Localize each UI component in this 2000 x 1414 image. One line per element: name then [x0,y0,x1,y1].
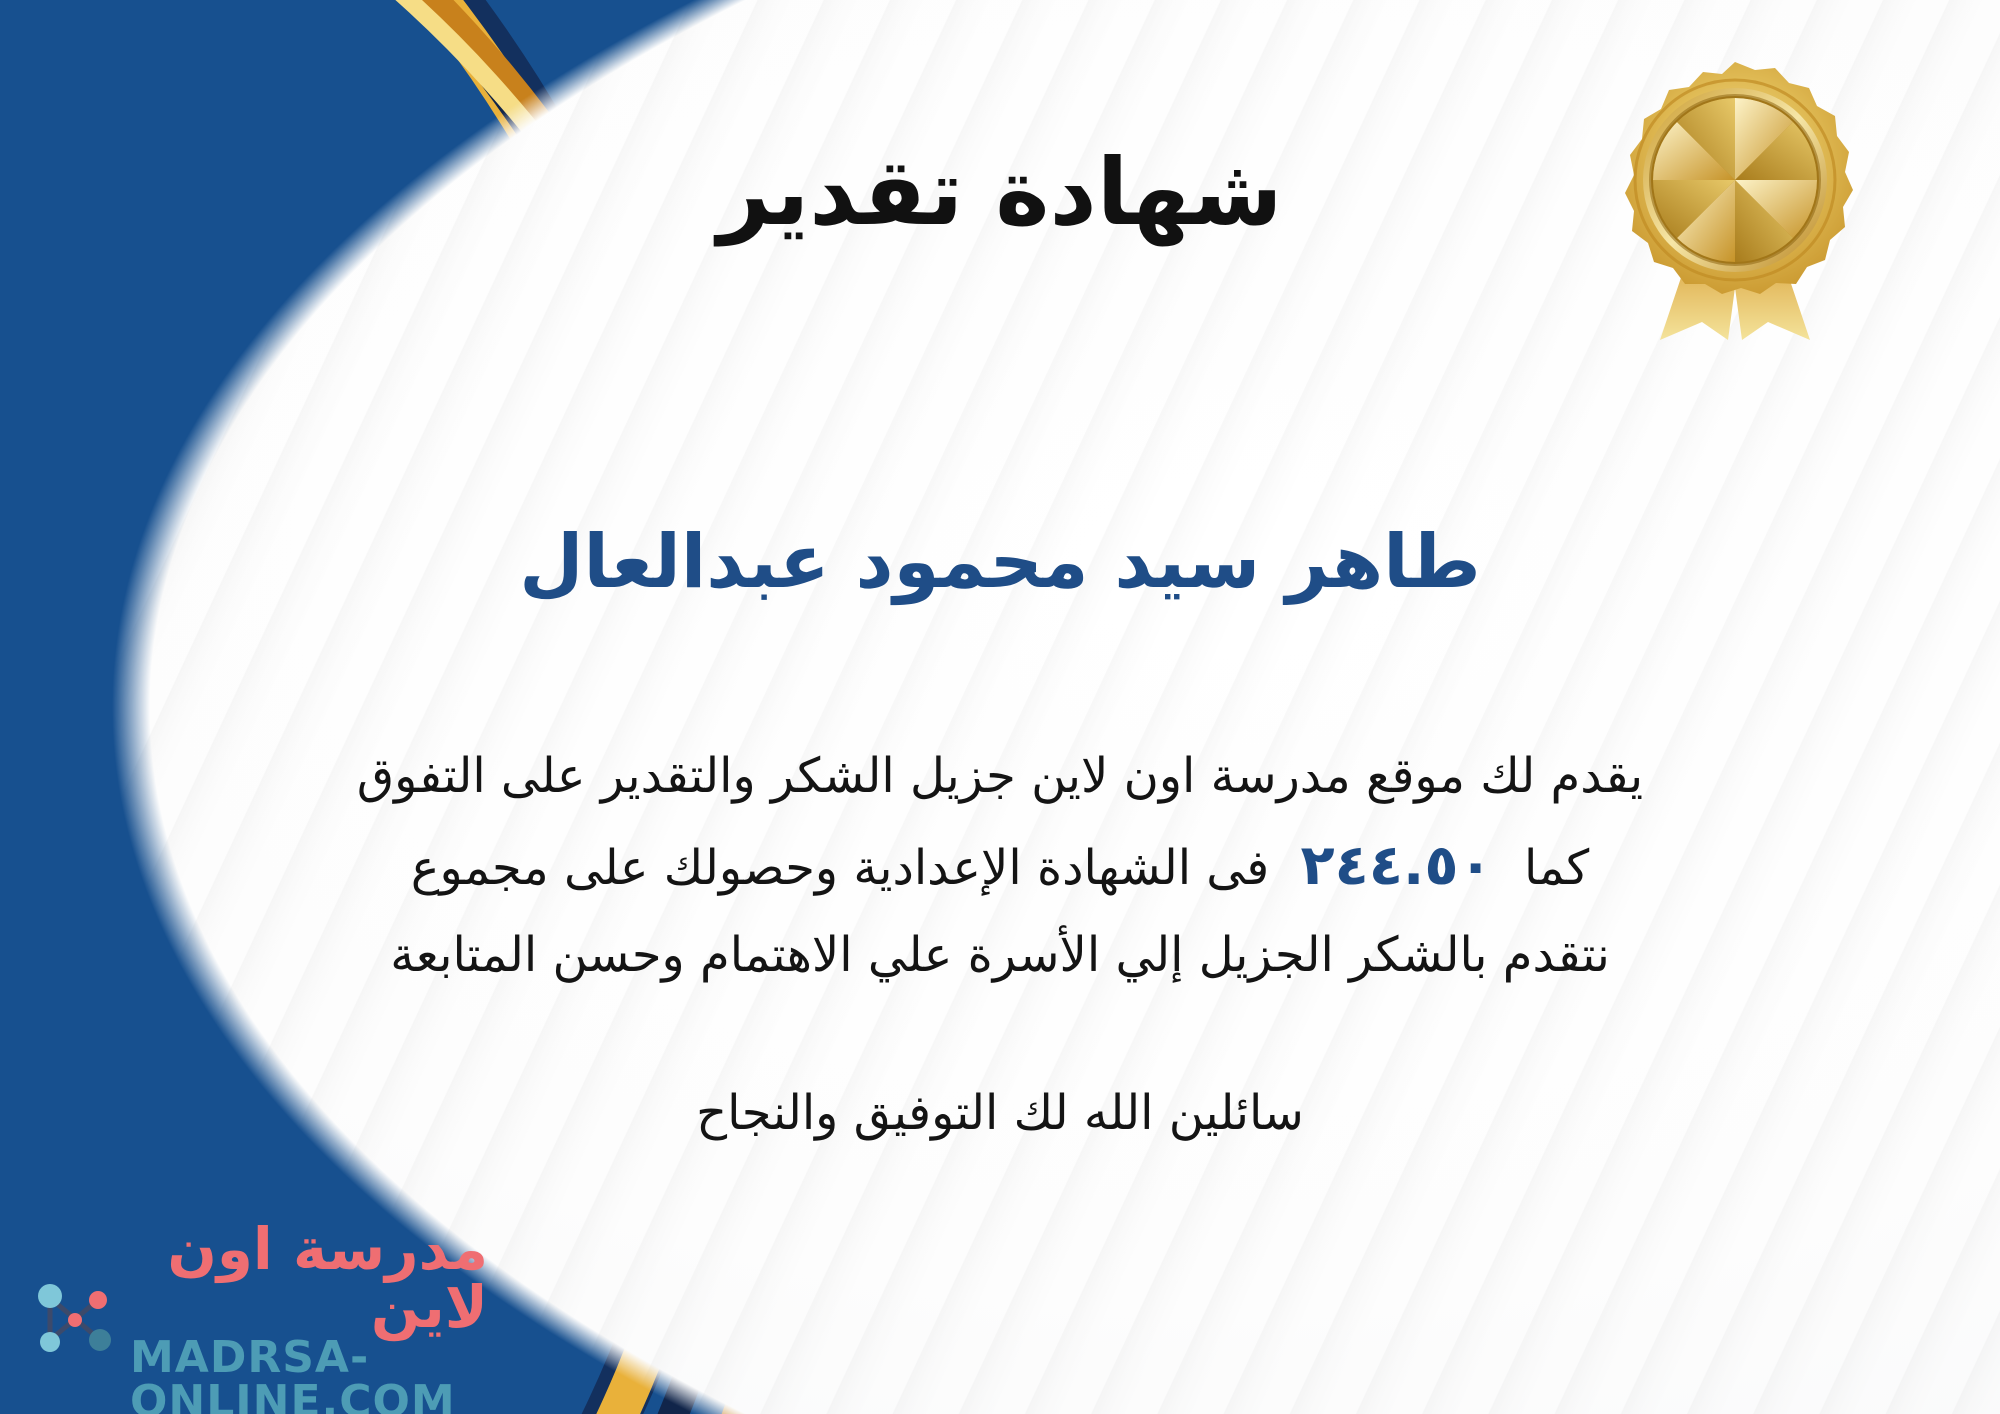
brand-logo-text: مدرسة اون لاين MADRSA-ONLINE.COM [130,1220,488,1414]
brand-url: MADRSA-ONLINE.COM [130,1336,488,1414]
body-line-2-prefix: فى الشهادة الإعدادية وحصولك على مجموع [411,840,1269,896]
certificate-body: يقدم لك موقع مدرسة اون لاين جزيل الشكر و… [120,735,1880,996]
brand-name-arabic: مدرسة اون لاين [130,1220,488,1336]
recipient-name: طاهر سيد محمود عبدالعال [0,520,2000,605]
page-title: شهادة تقدير [0,142,2000,243]
brand-logo[interactable]: مدرسة اون لاين MADRSA-ONLINE.COM [28,1252,488,1392]
body-line-2: كما ٢٤٤.٥٠ فى الشهادة الإعدادية وحصولك ع… [120,818,1880,914]
certificate-canvas: شهادة تقدير طاهر سيد محمود عبدالعال يقدم… [0,0,2000,1414]
certificate-content: شهادة تقدير طاهر سيد محمود عبدالعال يقدم… [0,0,2000,1414]
score-value: ٢٤٤.٥٠ [1285,833,1509,898]
body-line-1: يقدم لك موقع مدرسة اون لاين جزيل الشكر و… [120,735,1880,818]
body-line-3: نتقدم بالشكر الجزيل إلي الأسرة علي الاهت… [120,914,1880,997]
body-line-2-suffix: كما [1524,840,1589,896]
network-nodes-icon [28,1276,120,1368]
closing-line: سائلين الله لك التوفيق والنجاح [0,1085,2000,1141]
